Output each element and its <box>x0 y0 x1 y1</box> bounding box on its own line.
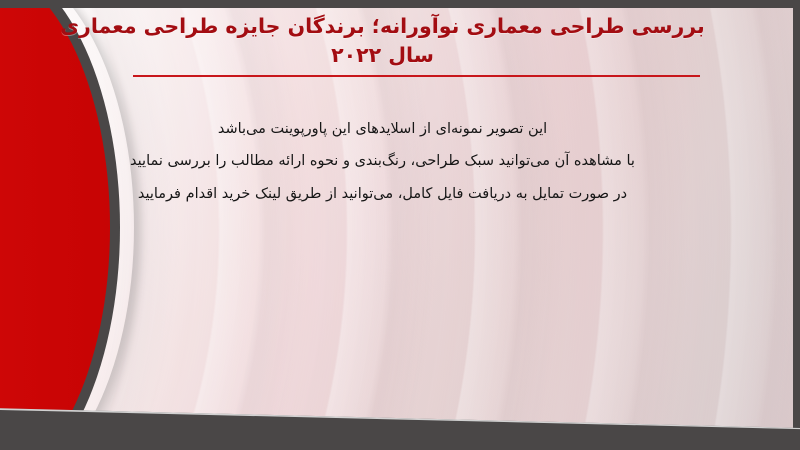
title-underline-rule <box>133 75 700 77</box>
body-line: در صورت تمایل به دریافت فایل کامل، می‌تو… <box>60 183 705 205</box>
slide-title: بررسی طراحی معماری نوآورانه؛ برندگان جای… <box>60 12 705 70</box>
body-line: با مشاهده آن می‌توانید سبک طراحی، رنگ‌بن… <box>60 150 705 172</box>
body-text-block: این تصویر نمونه‌ای از اسلایدهای این پاور… <box>60 118 705 205</box>
slide-content: بررسی طراحی معماری نوآورانه؛ برندگان جای… <box>0 0 800 450</box>
body-line: این تصویر نمونه‌ای از اسلایدهای این پاور… <box>60 118 705 140</box>
presentation-slide: بررسی طراحی معماری نوآورانه؛ برندگان جای… <box>0 0 800 450</box>
title-block: بررسی طراحی معماری نوآورانه؛ برندگان جای… <box>60 12 705 70</box>
